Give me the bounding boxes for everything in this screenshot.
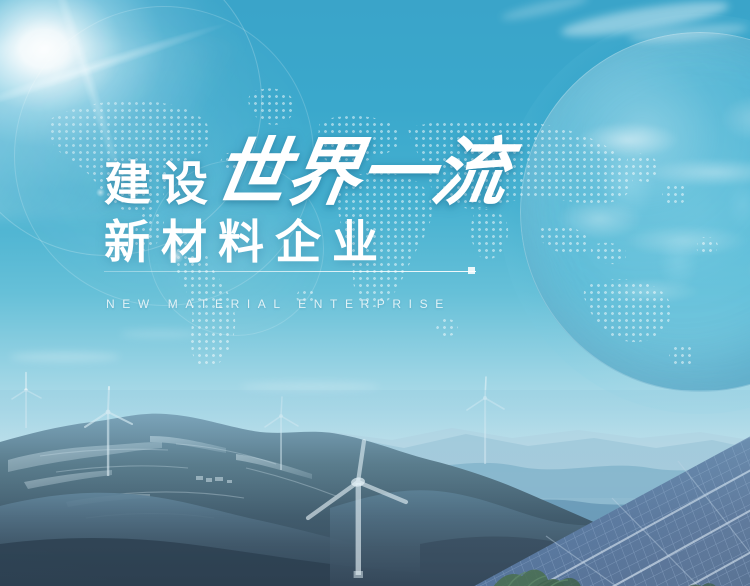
cloud-wisp [120, 330, 200, 338]
wind-turbine-icon [82, 386, 140, 478]
solar-panel-array [426, 400, 750, 586]
cloud-wisp [10, 352, 120, 362]
wind-turbine-icon [262, 396, 304, 472]
hero-banner: 建设 世界一流 新材料企业 NEW MATERIAL ENTERPRISE [0, 0, 750, 586]
headline-line-1: 建设 世界一流 [104, 128, 624, 210]
headline-line-2: 新材料企业 [104, 219, 624, 265]
subtitle-text: NEW MATERIAL ENTERPRISE [106, 297, 451, 311]
headline-lead-text: 建设 [104, 160, 218, 210]
wind-turbine-icon [8, 372, 48, 430]
cloud-wisp [240, 382, 380, 391]
headline-block: 建设 世界一流 新材料企业 [104, 128, 624, 265]
cloud-wisp [500, 0, 590, 24]
headline-emphasis-text: 世界一流 [208, 137, 511, 210]
headline-divider [104, 271, 476, 272]
divider-end-marker [468, 267, 475, 274]
wind-turbine-icon-primary [300, 440, 420, 580]
